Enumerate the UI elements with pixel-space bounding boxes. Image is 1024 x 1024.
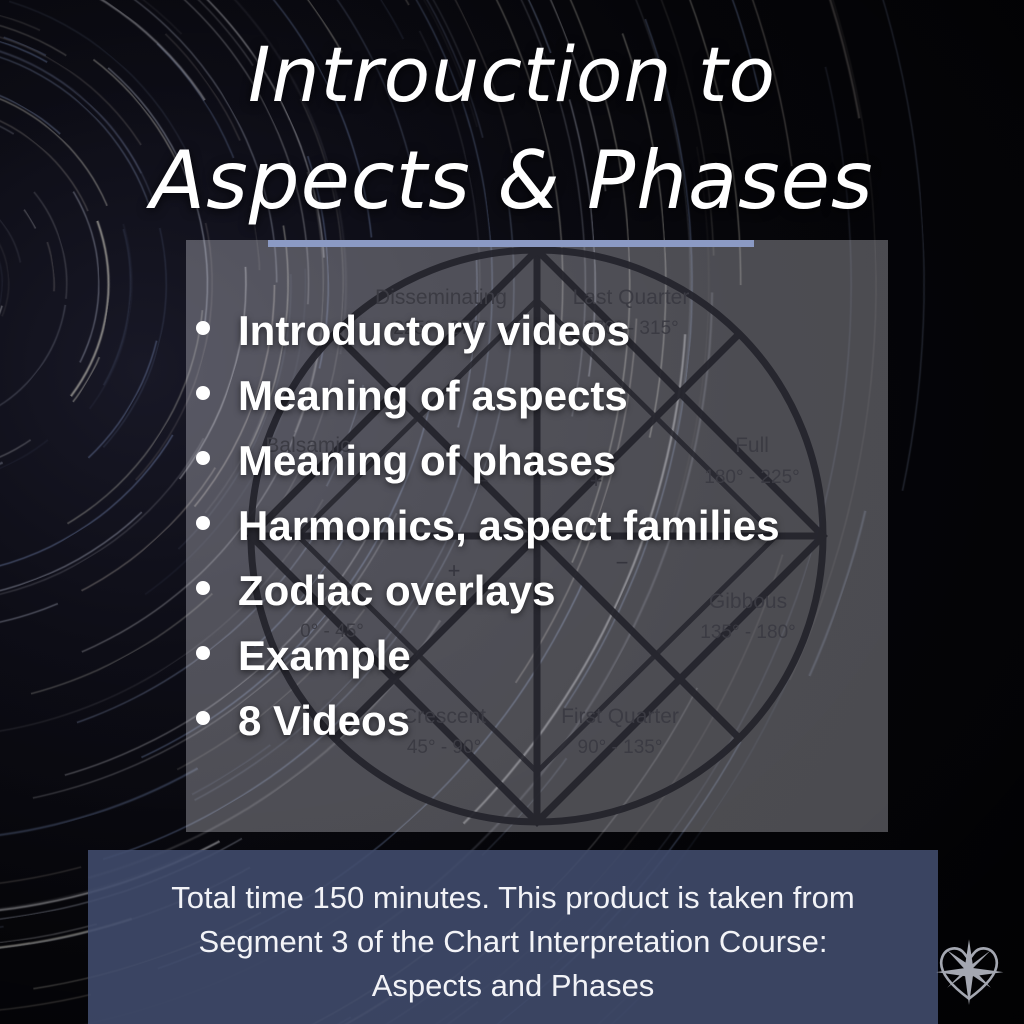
bullet-label: Zodiac overlays [238,570,555,612]
bullet-dot-icon [196,321,210,335]
bullet-label: Meaning of phases [238,440,616,482]
list-item: Harmonics, aspect families [196,505,896,547]
bullet-dot-icon [196,711,210,725]
list-item: Example [196,635,896,677]
list-item: Meaning of aspects [196,375,896,417]
feature-bullet-list: Introductory videos Meaning of aspects M… [196,310,896,765]
list-item: 8 Videos [196,700,896,742]
bullet-label: Example [238,635,411,677]
bullet-dot-icon [196,516,210,530]
list-item: Zodiac overlays [196,570,896,612]
bullet-dot-icon [196,386,210,400]
caption-box: Total time 150 minutes. This product is … [88,850,938,1024]
phase-label-disseminating-name: Disseminating [375,286,507,309]
title-underline-rule [268,240,754,247]
heart-compass-star-logo [930,930,1008,1008]
bullet-label: Harmonics, aspect families [238,505,780,547]
bullet-label: Meaning of aspects [238,375,628,417]
bullet-label: 8 Videos [238,700,410,742]
bullet-dot-icon [196,451,210,465]
caption-line-3: Aspects and Phases [88,964,938,1008]
compass-star-icon [936,939,1003,1005]
bullet-label: Introductory videos [238,310,630,352]
caption-line-2: Segment 3 of the Chart Interpretation Co… [88,920,938,964]
bullet-dot-icon [196,581,210,595]
list-item: Meaning of phases [196,440,896,482]
poster-canvas: Introuction to Aspects & Phases [0,0,1024,1024]
bullet-dot-icon [196,646,210,660]
caption-line-1: Total time 150 minutes. This product is … [88,876,938,920]
phase-label-last-quarter-name: Last Quarter [573,286,690,309]
list-item: Introductory videos [196,310,896,352]
